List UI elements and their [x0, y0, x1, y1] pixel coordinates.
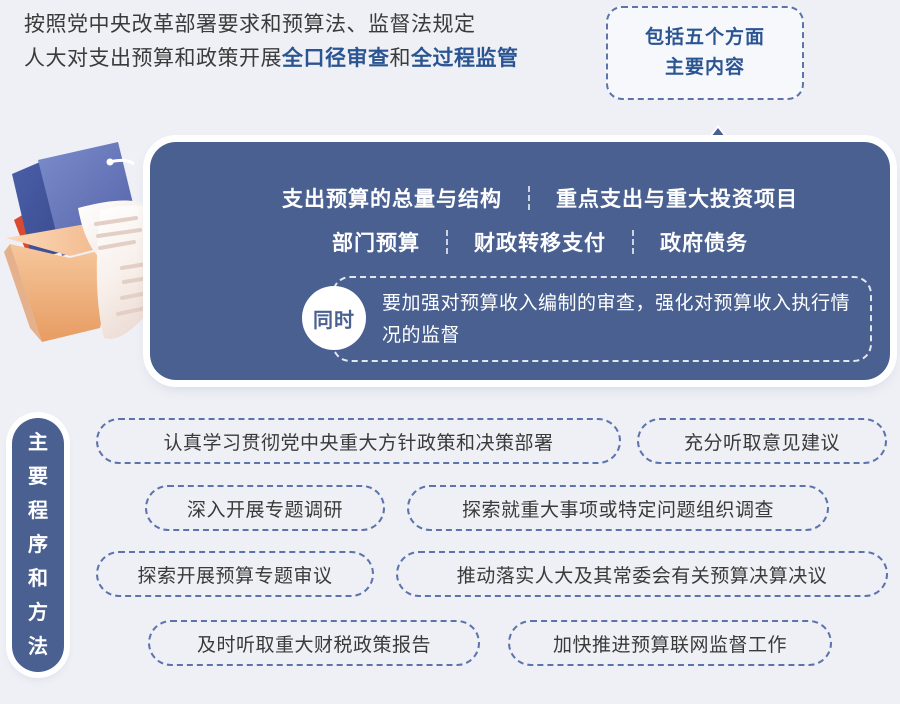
method-pill-label: 探索就重大事项或特定问题组织调查	[462, 495, 774, 522]
method-pill[interactable]: 及时听取重大财税政策报告	[148, 620, 480, 666]
sidebar-char: 要	[28, 460, 48, 494]
sidebar-char: 主	[28, 426, 48, 460]
main-content-panel: 支出预算的总量与结构 重点支出与重大投资项目 部门预算 财政转移支付 政府债务 …	[150, 128, 890, 380]
method-pill-label: 加快推进预算联网监督工作	[553, 630, 787, 657]
sidebar-char: 和	[28, 562, 48, 596]
sidebar-label-procedures-methods: 主 要 程 序 和 方 法	[12, 418, 64, 672]
panel-item-rows: 支出预算的总量与结构 重点支出与重大投资项目 部门预算 财政转移支付 政府债务	[210, 176, 870, 264]
method-pill-label: 深入开展专题调研	[187, 495, 343, 522]
divider	[528, 186, 530, 210]
method-pill-label: 充分听取意见建议	[684, 428, 840, 455]
method-pill[interactable]: 认真学习贯彻党中央重大方针政策和决策部署	[96, 418, 621, 464]
method-pill-label: 探索开展预算专题审议	[137, 561, 332, 588]
callout-five-aspects: 包括五个方面 主要内容	[606, 6, 804, 100]
header-line-2-prefix: 人大对支出预算和政策开展	[24, 47, 282, 70]
method-pill[interactable]: 加快推进预算联网监督工作	[508, 620, 832, 666]
header-line-2-conjunction: 和	[390, 47, 412, 70]
method-pill-label: 认真学习贯彻党中央重大方针政策和决策部署	[163, 428, 553, 455]
method-pill[interactable]: 探索就重大事项或特定问题组织调查	[407, 485, 829, 531]
method-pill[interactable]: 探索开展预算专题审议	[96, 551, 374, 597]
sidebar-char: 方	[28, 596, 48, 630]
method-pill[interactable]: 推动落实人大及其常委会有关预算决算决议	[396, 551, 888, 597]
header-line-1: 按照党中央改革部署要求和预算法、监督法规定	[24, 8, 584, 42]
divider	[446, 230, 448, 254]
panel-body: 支出预算的总量与结构 重点支出与重大投资项目 部门预算 财政转移支付 政府债务 …	[150, 142, 890, 380]
note-text: 要加强对预算收入编制的审查，强化对预算收入执行情况的监督	[382, 288, 852, 352]
panel-item-fiscal-transfer: 财政转移支付	[458, 227, 622, 257]
sidebar-char: 序	[28, 528, 48, 562]
method-pill[interactable]: 充分听取意见建议	[637, 418, 887, 464]
panel-row-2: 部门预算 财政转移支付 政府债务	[210, 220, 870, 264]
method-pill-label: 及时听取重大财税政策报告	[197, 630, 431, 657]
callout-line-2: 主要内容	[665, 53, 745, 83]
note-badge-meanwhile: 同时	[302, 286, 366, 350]
header-highlight-full-process-supervision: 全过程监管	[411, 47, 519, 70]
sidebar-char: 法	[28, 630, 48, 664]
infographic-canvas: 按照党中央改革部署要求和预算法、监督法规定 人大对支出预算和政策开展全口径审查和…	[0, 0, 900, 704]
sidebar-char: 程	[28, 494, 48, 528]
header-line-2: 人大对支出预算和政策开展全口径审查和全过程监管	[24, 42, 584, 76]
panel-item-government-debt: 政府债务	[644, 227, 764, 257]
divider	[632, 230, 634, 254]
callout-line-1: 包括五个方面	[645, 23, 765, 53]
panel-item-department-budget: 部门预算	[316, 227, 436, 257]
note-meanwhile: 同时 要加强对预算收入编制的审查，强化对预算收入执行情况的监督	[302, 276, 872, 362]
method-pill-label: 推动落实人大及其常委会有关预算决算决议	[457, 561, 828, 588]
panel-row-1: 支出预算的总量与结构 重点支出与重大投资项目	[210, 176, 870, 220]
panel-item-total-structure: 支出预算的总量与结构	[266, 183, 518, 213]
method-pill[interactable]: 深入开展专题调研	[145, 485, 385, 531]
panel-item-key-expenditure: 重点支出与重大投资项目	[540, 183, 814, 213]
header-highlight-full-scope-review: 全口径审查	[282, 47, 390, 70]
page-title: 按照党中央改革部署要求和预算法、监督法规定 人大对支出预算和政策开展全口径审查和…	[24, 8, 584, 76]
